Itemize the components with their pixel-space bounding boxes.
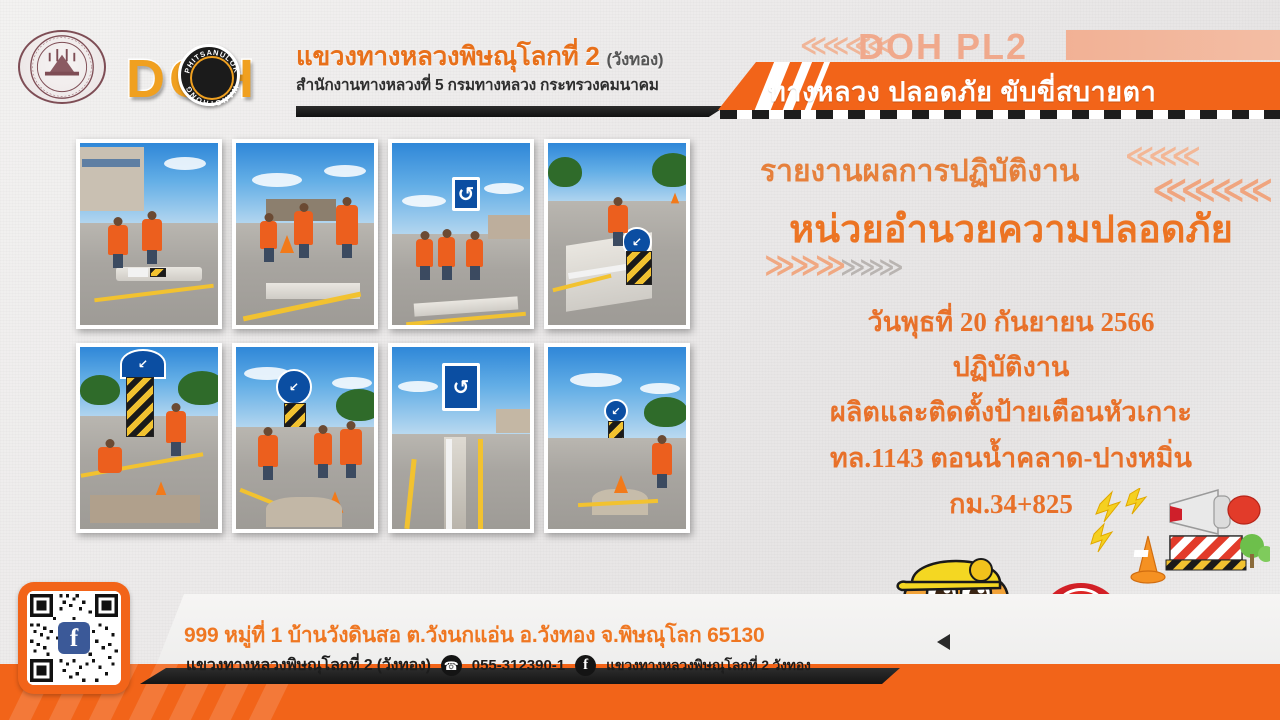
report-panel: รายงานผลการปฏิบัติงาน ≪≪≪ ≪≪≪≪ หน่วยอำนว…	[742, 140, 1280, 540]
panel-chevrons-left-gray: ≫≫≫	[840, 254, 897, 281]
org-subtitle: สำนักงานทางหลวงที่ 5 กรมทางหลวง กระทรวงค…	[296, 72, 746, 97]
banner-accent-bar	[1066, 30, 1280, 60]
doh-logo: DOH PHITSANULOK WANGTHONG	[126, 36, 288, 108]
svg-text:PHITSANULOK: PHITSANULOK	[183, 48, 242, 75]
org-title-suffix: (วังทอง)	[606, 50, 663, 69]
photo-5[interactable]: ↙	[76, 343, 222, 533]
footer-facebook-name: แขวงทางหลวงพิษณุโลกที่ 2 วังทอง	[606, 655, 811, 677]
facebook-qr-code[interactable]: f	[18, 582, 130, 694]
activity-label: ปฏิบัติงาน	[742, 345, 1280, 388]
u-turn-sign-icon: ↺	[442, 363, 480, 411]
report-date: วันพุธที่ 20 กันยายน 2566	[742, 300, 1280, 343]
infographic-poster: DOH PHITSANULOK WANGTHONG แขวงทางหลวงพิษ…	[0, 0, 1280, 720]
photo-1[interactable]	[76, 139, 222, 329]
photo-8[interactable]: ↙	[544, 343, 690, 533]
department-of-highways-seal-icon	[18, 30, 106, 104]
facebook-icon[interactable]: f	[575, 655, 596, 676]
arrow-sign-icon: ↙	[120, 349, 166, 379]
photo-7[interactable]: ↺	[388, 343, 534, 533]
slogan-text: ทางหลวง ปลอดภัย ขับขี่สบายตา	[768, 70, 1156, 113]
hotline-illustration	[1086, 488, 1270, 598]
banner-code: DOH PL2	[858, 26, 1028, 68]
photo-2[interactable]	[232, 139, 378, 329]
header: DOH PHITSANULOK WANGTHONG แขวงทางหลวงพิษ…	[0, 0, 1280, 128]
photo-3[interactable]: ↺	[388, 139, 534, 329]
report-label: รายงานผลการปฏิบัติงาน	[760, 148, 1079, 195]
u-turn-sign-icon: ↺	[452, 177, 480, 211]
footer-contact-row: แขวงทางหลวงพิษณุโลกที่ 2 (วังทอง) ☎ 055-…	[186, 653, 811, 678]
org-title-row: แขวงทางหลวงพิษณุโลกที่ 2 (วังทอง)	[296, 42, 746, 71]
organization-block: แขวงทางหลวงพิษณุโลกที่ 2 (วังทอง) สำนักง…	[296, 42, 746, 97]
photo-6[interactable]: ↙	[232, 343, 378, 533]
route-info: ทล.1143 ตอนน้ำคลาด-ปางหมิ่น	[742, 436, 1280, 479]
org-title: แขวงทางหลวงพิษณุโลกที่ 2	[296, 41, 600, 71]
dashed-road-strip	[720, 110, 1280, 119]
phone-icon: ☎	[441, 655, 462, 676]
doh-logo-badge: PHITSANULOK WANGTHONG	[178, 44, 240, 106]
org-underline-bar	[296, 106, 726, 117]
facebook-icon: f	[58, 622, 90, 654]
arrow-sign-icon: ↙	[604, 399, 628, 423]
svg-text:WANGTHONG: WANGTHONG	[184, 84, 241, 108]
photo-4[interactable]: ↙	[544, 139, 690, 329]
footer-arrow-icon	[937, 634, 950, 650]
footer-address: 999 หมู่ที่ 1 บ้านวังดินสอ ต.วังนกแอ่น อ…	[184, 619, 765, 652]
panel-chevrons-left-icon: ≫≫≫≫≫≫	[764, 248, 898, 283]
arrow-sign-icon: ↙	[276, 369, 312, 405]
footer-office-name: แขวงทางหลวงพิษณุโลกที่ 2 (วังทอง)	[186, 653, 431, 678]
footer-phone: 055-312390-1	[472, 657, 565, 674]
panel-chevrons-right-icon: ≪≪≪	[1125, 142, 1195, 170]
activity-description: ผลิตและติดตั้งป้ายเตือนหัวเกาะ	[742, 390, 1280, 433]
panel-chevrons-left-orange: ≫≫≫	[764, 249, 840, 282]
